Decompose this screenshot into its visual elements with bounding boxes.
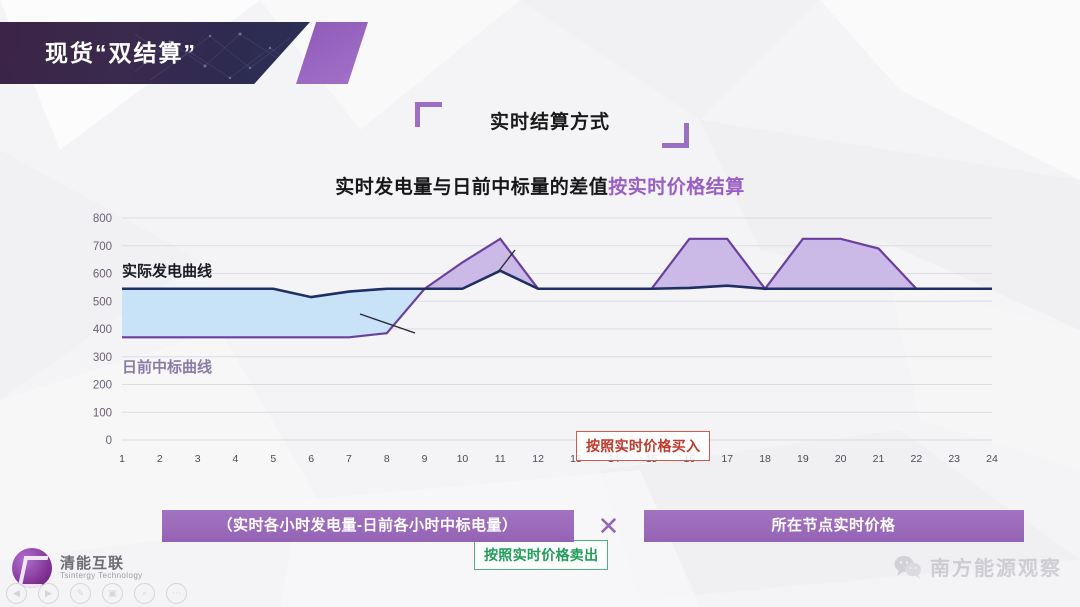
chart-svg: 0100200300400500600700800 12345678910111… bbox=[60, 210, 1010, 480]
logo-text: 清能互联 Tsintergy Technology bbox=[60, 556, 143, 580]
pen-icon[interactable]: ✎ bbox=[70, 583, 91, 604]
watermark: 南方能源观察 bbox=[893, 552, 1062, 581]
section-title: 实时结算方式 bbox=[405, 100, 695, 146]
chart-y-axis-labels: 0100200300400500600700800 bbox=[93, 213, 112, 447]
svg-text:200: 200 bbox=[93, 380, 112, 392]
formula-operator: ✕ bbox=[574, 510, 644, 542]
formula-left-bar: （实时各小时发电量-日前各小时中标电量） bbox=[162, 510, 574, 542]
svg-text:18: 18 bbox=[759, 453, 771, 465]
subtitle-highlight: 按实时价格结算 bbox=[608, 177, 745, 198]
svg-text:1: 1 bbox=[119, 453, 125, 465]
callout-sell: 按照实时价格卖出 bbox=[474, 540, 608, 570]
banner-accent-stripe bbox=[296, 22, 368, 84]
svg-text:23: 23 bbox=[948, 453, 960, 465]
settlement-chart: 0100200300400500600700800 12345678910111… bbox=[60, 210, 1010, 480]
svg-text:11: 11 bbox=[495, 453, 506, 465]
callout-buy: 按照实时价格买入 bbox=[576, 431, 710, 461]
svg-text:3: 3 bbox=[195, 453, 201, 465]
formula-right-bar: 所在节点实时价格 bbox=[644, 510, 1024, 542]
tsintergy-logo-icon bbox=[12, 548, 52, 588]
svg-text:21: 21 bbox=[873, 453, 885, 465]
svg-text:24: 24 bbox=[986, 453, 998, 465]
svg-text:22: 22 bbox=[911, 453, 923, 465]
next-icon[interactable]: ▶ bbox=[38, 583, 59, 604]
prev-icon[interactable]: ◀ bbox=[6, 583, 27, 604]
svg-text:2: 2 bbox=[157, 453, 163, 465]
svg-text:10: 10 bbox=[457, 453, 469, 465]
formula-row: （实时各小时发电量-日前各小时中标电量） ✕ 所在节点实时价格 bbox=[0, 508, 1080, 544]
svg-text:4: 4 bbox=[233, 453, 239, 465]
subtitle-plain: 实时发电量与日前中标量的差值 bbox=[335, 177, 608, 198]
svg-text:6: 6 bbox=[308, 453, 314, 465]
svg-text:400: 400 bbox=[93, 324, 112, 336]
subtitle: 实时发电量与日前中标量的差值按实时价格结算 bbox=[0, 172, 1080, 199]
svg-text:12: 12 bbox=[532, 453, 544, 465]
more-icon[interactable]: ⋯ bbox=[166, 583, 187, 604]
logo-name-en: Tsintergy Technology bbox=[60, 572, 143, 580]
wechat-icon bbox=[893, 555, 923, 579]
svg-text:300: 300 bbox=[93, 352, 112, 364]
zoom-icon[interactable]: ⌕ bbox=[134, 583, 155, 604]
svg-text:7: 7 bbox=[346, 453, 352, 465]
section-title-block: 实时结算方式 bbox=[405, 100, 695, 146]
player-controls[interactable]: ◀ ▶ ✎ ▣ ⌕ ⋯ bbox=[6, 583, 187, 604]
svg-text:100: 100 bbox=[93, 407, 112, 419]
svg-text:20: 20 bbox=[835, 453, 847, 465]
header-banner: 现货“双结算” bbox=[0, 22, 370, 84]
svg-text:500: 500 bbox=[93, 296, 112, 308]
banner-title: 现货“双结算” bbox=[45, 22, 197, 84]
svg-text:800: 800 bbox=[93, 213, 112, 225]
slide-canvas: 现货“双结算” 实时结算方式 实时发电量与日前中标量的差值按实时价格结算 010… bbox=[0, 0, 1080, 607]
svg-text:19: 19 bbox=[797, 453, 809, 465]
svg-text:8: 8 bbox=[384, 453, 390, 465]
svg-text:700: 700 bbox=[93, 241, 112, 253]
actual-curve-label: 实际发电曲线 bbox=[122, 262, 212, 280]
company-logo: 清能互联 Tsintergy Technology bbox=[12, 548, 143, 588]
chart-x-axis-labels: 123456789101112131415161718192021222324 bbox=[119, 453, 998, 465]
svg-text:9: 9 bbox=[422, 453, 428, 465]
svg-text:600: 600 bbox=[93, 269, 112, 281]
watermark-text: 南方能源观察 bbox=[930, 552, 1062, 581]
svg-text:17: 17 bbox=[721, 453, 733, 465]
logo-name-cn: 清能互联 bbox=[60, 556, 143, 572]
svg-text:0: 0 bbox=[106, 435, 112, 447]
svg-text:5: 5 bbox=[270, 453, 276, 465]
screen-icon[interactable]: ▣ bbox=[102, 583, 123, 604]
dayahead-curve-label: 日前中标曲线 bbox=[122, 358, 212, 376]
